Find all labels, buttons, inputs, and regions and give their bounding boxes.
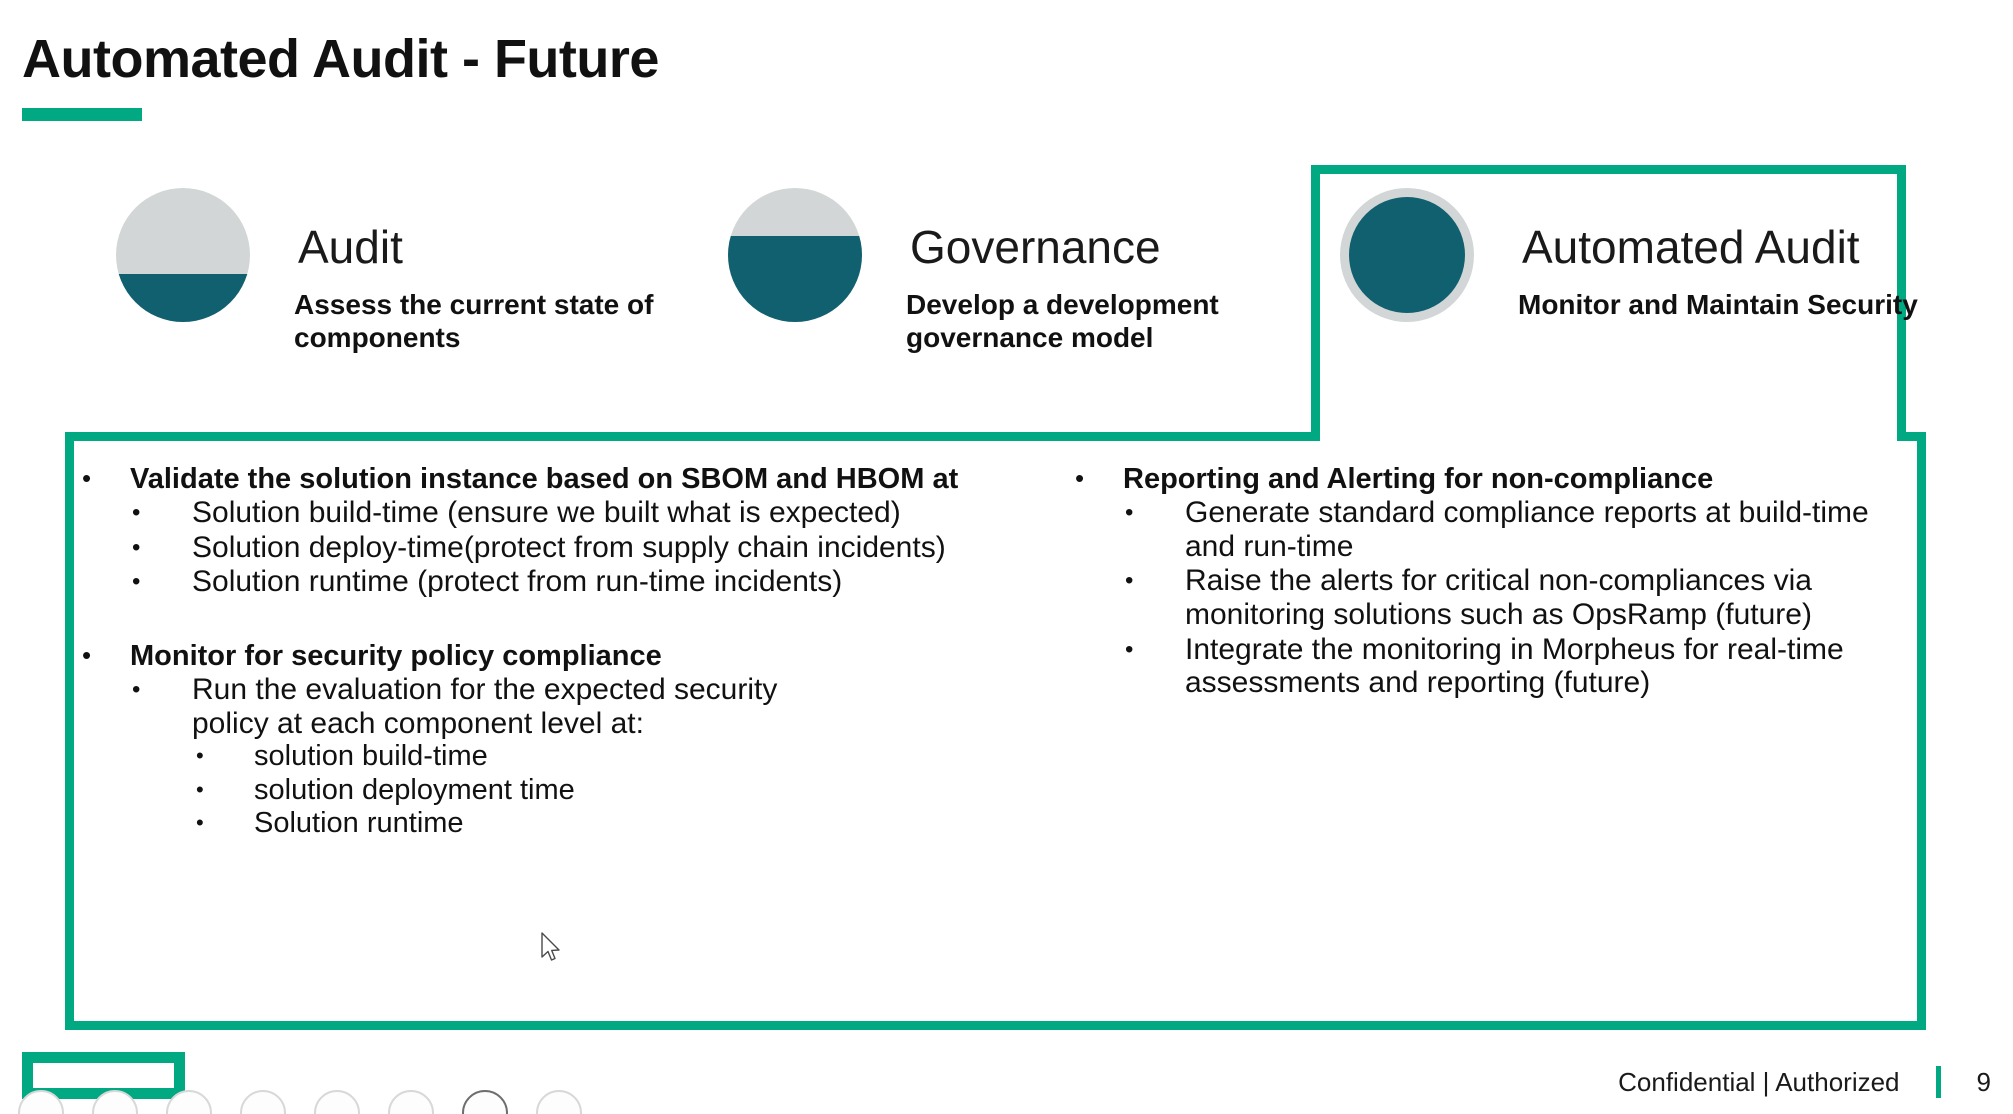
list-item-label: Monitor for security policy compliance: [130, 639, 1092, 673]
bullet-list-level3: • solution build-time • solution deploym…: [192, 740, 1092, 839]
bullet-glyph: •: [196, 740, 204, 772]
pillar-label-audit: Audit: [298, 220, 403, 274]
dock-icon-7[interactable]: [462, 1090, 508, 1114]
dock-icon-2[interactable]: [92, 1090, 138, 1114]
bullet-list-level1-right: • Reporting and Alerting for non-complia…: [1075, 462, 1915, 700]
list-item: • Solution deploy-time(protect from supp…: [130, 531, 1092, 565]
list-item: • Generate standard compliance reports a…: [1123, 496, 1915, 563]
list-item-label: Raise the alerts for critical non-compli…: [1185, 564, 1845, 631]
list-item: • solution build-time: [192, 740, 1092, 772]
list-item-label: Solution build-time (ensure we built wha…: [192, 496, 1092, 530]
pillar-subtitle-audit: Assess the current state of components: [294, 288, 724, 354]
mouse-cursor-icon: [540, 932, 562, 964]
pillar-label-automated-audit: Automated Audit: [1522, 220, 1860, 274]
bullet-glyph: •: [1125, 633, 1133, 666]
list-item: • Solution build-time (ensure we built w…: [130, 496, 1092, 530]
dock-icon-8[interactable]: [536, 1090, 582, 1114]
list-item: • Solution runtime (protect from run-tim…: [130, 565, 1092, 599]
list-item: • Reporting and Alerting for non-complia…: [1075, 462, 1915, 700]
list-item-label: Solution runtime: [254, 807, 1092, 839]
list-item: • Integrate the monitoring in Morpheus f…: [1123, 633, 1915, 700]
bullet-list-level2: • Generate standard compliance reports a…: [1123, 496, 1915, 700]
dock-icon-4[interactable]: [240, 1090, 286, 1114]
bullet-glyph: •: [132, 673, 140, 706]
list-item-label: Integrate the monitoring in Morpheus for…: [1185, 633, 1885, 700]
list-item-label: Solution runtime (protect from run-time …: [192, 565, 1092, 599]
bullet-list-level2: • Solution build-time (ensure we built w…: [130, 496, 1092, 599]
list-item: • Raise the alerts for critical non-comp…: [1123, 564, 1915, 631]
bullet-list-level2: • Run the evaluation for the expected se…: [130, 673, 1092, 840]
list-item-label: Solution deploy-time(protect from supply…: [192, 531, 1092, 565]
taskbar-dock[interactable]: [18, 1090, 582, 1114]
bullet-glyph: •: [1075, 462, 1084, 496]
slide-canvas: Automated Audit - Future Audit Assess th…: [0, 0, 2013, 1114]
circle-one-third-filled-icon: [116, 188, 250, 322]
list-item: • Run the evaluation for the expected se…: [130, 673, 1092, 840]
circle-fully-filled-icon: [1340, 188, 1474, 322]
list-item-label: solution build-time: [254, 740, 1092, 772]
bullet-list-level1-left: • Validate the solution instance based o…: [82, 462, 1092, 840]
frame-seam-mask: [1320, 426, 1897, 442]
title-accent-rule: [22, 108, 142, 121]
list-item: • Monitor for security policy compliance…: [82, 639, 1092, 840]
bullet-column-right: • Reporting and Alerting for non-complia…: [1075, 462, 1915, 702]
dock-icon-6[interactable]: [388, 1090, 434, 1114]
list-item: • Solution runtime: [192, 807, 1092, 839]
dock-icon-1[interactable]: [18, 1090, 64, 1114]
dock-icon-5[interactable]: [314, 1090, 360, 1114]
classification-label: Confidential | Authorized: [1618, 1067, 1935, 1098]
list-item-label: Generate standard compliance reports at …: [1185, 496, 1897, 563]
list-item: • Validate the solution instance based o…: [82, 462, 1092, 599]
page-title: Automated Audit - Future: [22, 28, 659, 90]
pillar-subtitle-governance: Develop a development governance model: [906, 288, 1336, 354]
pillar-subtitle-automated-audit: Monitor and Maintain Security: [1518, 288, 1948, 321]
bullet-glyph: •: [1125, 564, 1133, 597]
list-item-label: Reporting and Alerting for non-complianc…: [1123, 462, 1915, 496]
dock-icon-3[interactable]: [166, 1090, 212, 1114]
pillar-label-governance: Governance: [910, 220, 1161, 274]
list-item-label: solution deployment time: [254, 774, 1092, 806]
bullet-glyph: •: [82, 639, 91, 673]
bullet-glyph: •: [132, 531, 140, 564]
list-spacer: [82, 601, 1092, 639]
list-item-label: Run the evaluation for the expected secu…: [192, 673, 832, 740]
list-item-label: Validate the solution instance based on …: [130, 462, 1092, 496]
bullet-glyph: •: [132, 496, 140, 529]
list-item: • solution deployment time: [192, 774, 1092, 806]
bullet-glyph: •: [196, 774, 204, 806]
bullet-column-left: • Validate the solution instance based o…: [82, 462, 1092, 842]
bullet-glyph: •: [196, 807, 204, 839]
bullet-glyph: •: [132, 565, 140, 598]
page-number: 9: [1941, 1067, 1991, 1098]
footer: Confidential | Authorized 9: [1618, 1066, 1991, 1098]
bullet-glyph: •: [1125, 496, 1133, 529]
bullet-glyph: •: [82, 462, 91, 496]
circle-two-thirds-filled-icon: [728, 188, 862, 322]
